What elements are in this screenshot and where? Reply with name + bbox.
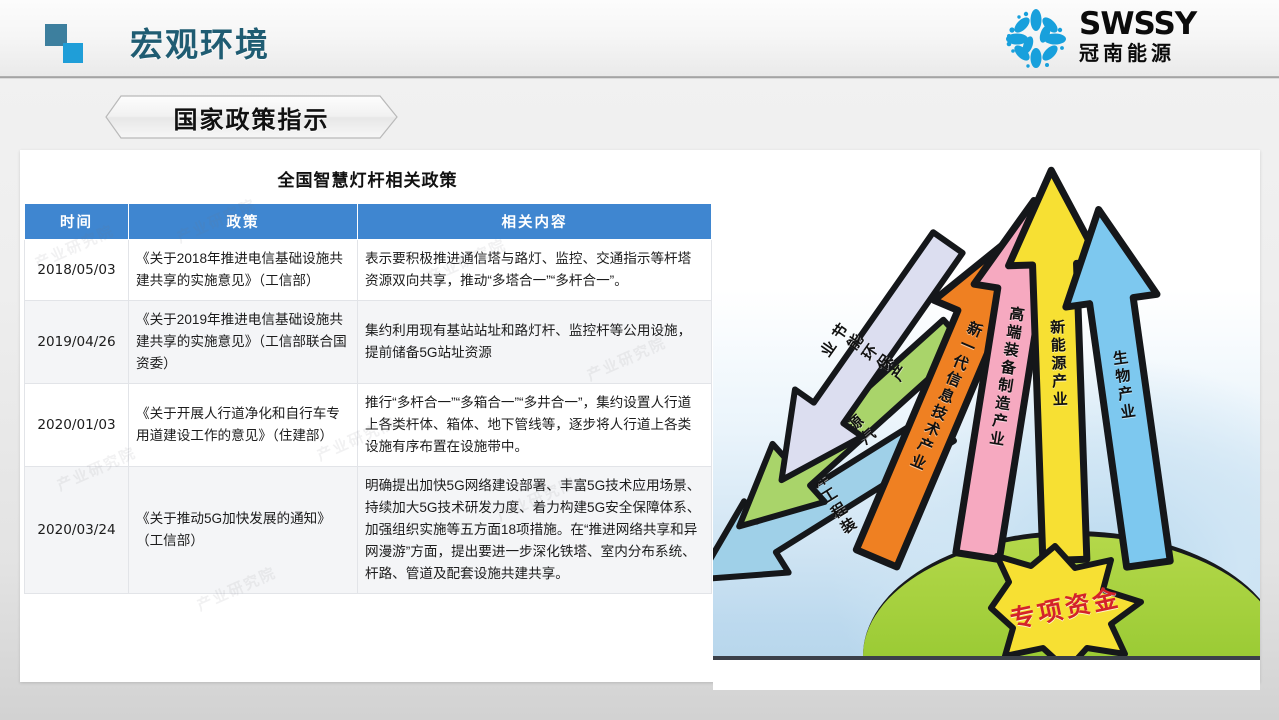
two-squares-icon — [45, 24, 85, 64]
table-row: 2020/01/03 《关于开展人行道净化和自行车专用道建设工作的意见》（住建部… — [25, 384, 712, 467]
policy-table: 时间 政策 相关内容 2018/05/03 《关于2018年推进电信基础设施共建… — [24, 203, 712, 594]
content-panel: 全国智慧灯杆相关政策 时间 政策 相关内容 2018/05/03 《关于2018… — [20, 150, 1260, 682]
section-ribbon-label: 国家政策指示 — [105, 95, 398, 139]
cell-content: 明确提出加快5G网络建设部署、丰富5G技术应用场景、持续加大5G技术研发力度、着… — [358, 467, 712, 594]
table-row: 2020/03/24 《关于推动5G加快发展的通知》（工信部） 明确提出加快5G… — [25, 467, 712, 594]
brand-name-en: SWSSY — [1079, 8, 1259, 41]
table-title: 全国智慧灯杆相关政策 — [24, 158, 711, 203]
section-ribbon: 国家政策指示 — [105, 95, 398, 139]
water-droplet-burst-logo-icon — [1001, 8, 1071, 70]
cell-date: 2019/04/26 — [25, 301, 129, 384]
cell-date: 2020/03/24 — [25, 467, 129, 594]
illustration-bottom-margin — [713, 660, 1260, 690]
column-header-policy: 政策 — [129, 204, 358, 240]
decoration-square-light — [63, 43, 83, 63]
cell-date: 2020/01/03 — [25, 384, 129, 467]
brand-text: SWSSY 冠南能源 — [1079, 8, 1259, 66]
table-row: 2018/05/03 《关于2018年推进电信基础设施共建共享的实施意见》（工信… — [25, 240, 712, 301]
cell-content: 推行“多杆合一”“多箱合一”“多井合一”，集约设置人行道上各类杆体、箱体、地下管… — [358, 384, 712, 467]
brand-name-cn: 冠南能源 — [1079, 42, 1259, 66]
policy-table-block: 全国智慧灯杆相关政策 时间 政策 相关内容 2018/05/03 《关于2018… — [24, 158, 711, 594]
page-title: 宏观环境 — [130, 18, 270, 66]
cell-policy: 《关于2019年推进电信基础设施共建共享的实施意见》（工信部联合国资委） — [129, 301, 358, 384]
header-divider — [0, 76, 1279, 79]
table-header-row: 时间 政策 相关内容 — [25, 204, 712, 240]
cell-policy: 《关于开展人行道净化和自行车专用道建设工作的意见》（住建部） — [129, 384, 358, 467]
rising-industry-arrows-illustration: 海洋工程装备 新能源汽车 节能环保产业 新一代信息技术产业 — [713, 150, 1260, 690]
cell-policy: 《关于推动5G加快发展的通知》（工信部） — [129, 467, 358, 594]
brand-logo: SWSSY 冠南能源 — [1001, 6, 1261, 72]
cell-content: 表示要积极推进通信塔与路灯、监控、交通指示等杆塔资源双向共享，推动“多塔合一”“… — [358, 240, 712, 301]
slide-header: 宏观环境 — [0, 0, 1279, 79]
table-row: 2019/04/26 《关于2019年推进电信基础设施共建共享的实施意见》（工信… — [25, 301, 712, 384]
column-header-content: 相关内容 — [358, 204, 712, 240]
special-funds-badge: 专项资金 — [975, 542, 1155, 672]
cell-date: 2018/05/03 — [25, 240, 129, 301]
column-header-time: 时间 — [25, 204, 129, 240]
cell-policy: 《关于2018年推进电信基础设施共建共享的实施意见》（工信部） — [129, 240, 358, 301]
cell-content: 集约利用现有基站站址和路灯杆、监控杆等公用设施，提前储备5G站址资源 — [358, 301, 712, 384]
